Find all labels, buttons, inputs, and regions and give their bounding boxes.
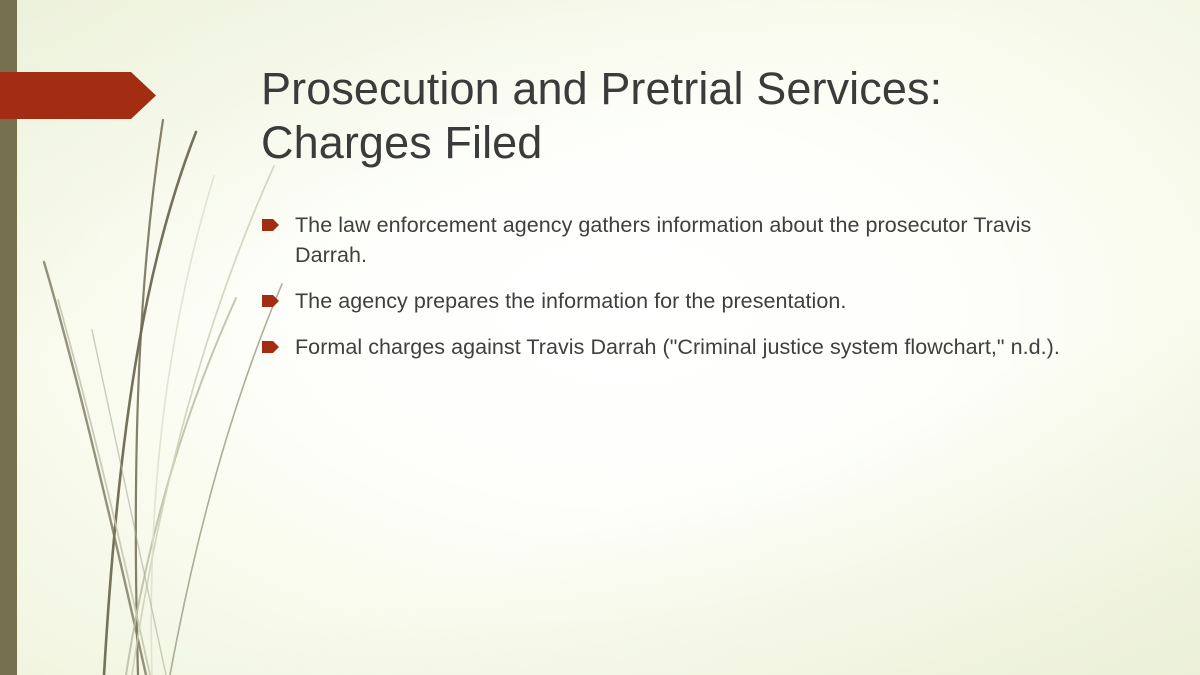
red-arrow-bullet-icon (262, 295, 279, 307)
red-banner-arrow (0, 72, 156, 119)
slide-body: The law enforcement agency gathers infor… (262, 210, 1102, 362)
list-item-text: The law enforcement agency gathers infor… (295, 213, 1031, 267)
list-item: The law enforcement agency gathers infor… (262, 210, 1102, 270)
slide-title: Prosecution and Pretrial Services: Charg… (261, 62, 1091, 170)
red-arrow-bullet-icon (262, 219, 279, 231)
list-item: The agency prepares the information for … (262, 286, 1102, 316)
list-item-text: The agency prepares the information for … (295, 289, 846, 313)
red-arrow-bullet-icon (262, 341, 279, 353)
slide: Prosecution and Pretrial Services: Charg… (0, 0, 1200, 675)
list-item-text: Formal charges against Travis Darrah ("C… (295, 335, 1060, 359)
list-item: Formal charges against Travis Darrah ("C… (262, 332, 1102, 362)
